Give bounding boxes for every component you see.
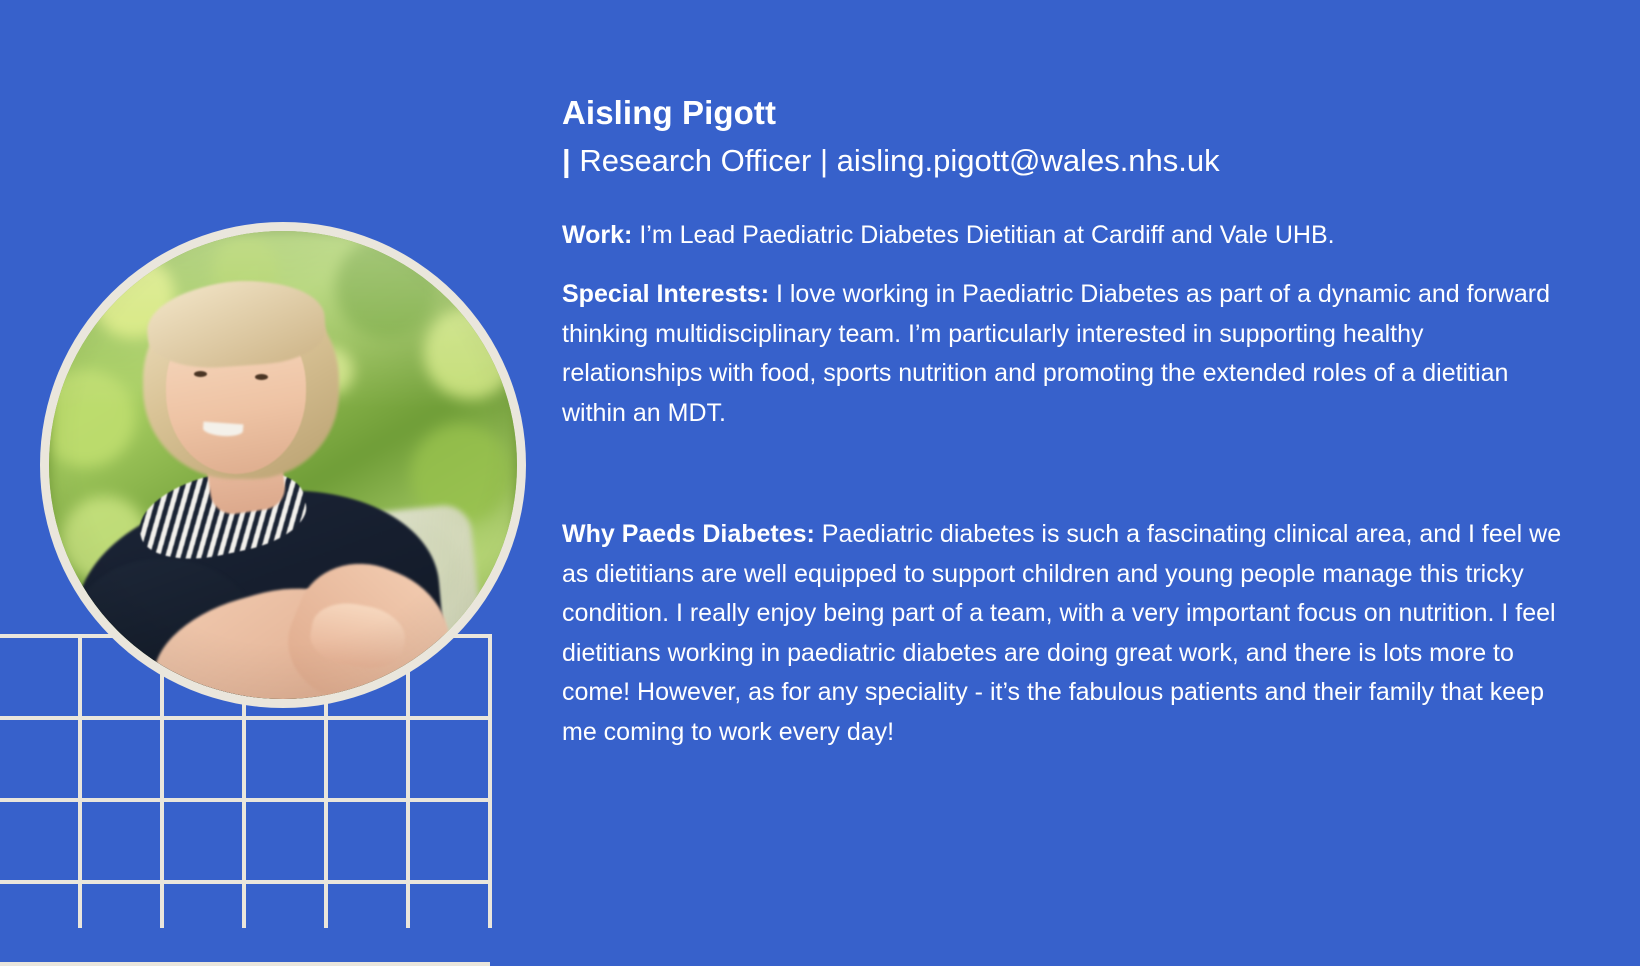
person-email: aisling.pigott@wales.nhs.uk	[828, 143, 1220, 178]
person-name: Aisling Pigott	[562, 92, 1562, 133]
role-separator: |	[820, 143, 828, 178]
section-why-paeds-diabetes: Why Paeds Diabetes: Paediatric diabetes …	[562, 515, 1562, 752]
section-work-body: I’m Lead Paediatric Diabetes Dietitian a…	[632, 221, 1334, 249]
bio-content: Aisling Pigott | Research Officer | aisl…	[562, 0, 1562, 924]
photo-vignette	[49, 231, 517, 699]
section-special-interests: Special Interests: I love working in Pae…	[562, 275, 1562, 433]
grid-line-horizontal	[0, 962, 490, 966]
person-role: Research Officer	[571, 143, 820, 178]
grid-line-horizontal	[0, 798, 490, 802]
section-why-paeds-diabetes-body: Paediatric diabetes is such a fascinatin…	[562, 520, 1561, 746]
grid-line-horizontal	[0, 716, 490, 720]
grid-line-horizontal	[0, 880, 490, 884]
section-special-interests-lead: Special Interests:	[562, 280, 769, 308]
section-work: Work: I’m Lead Paediatric Diabetes Dieti…	[562, 216, 1562, 256]
role-leading-bar: |	[562, 143, 571, 178]
section-why-paeds-diabetes-lead: Why Paeds Diabetes:	[562, 520, 815, 548]
section-work-lead: Work:	[562, 221, 632, 249]
profile-photo	[49, 231, 517, 699]
profile-photo-frame	[40, 222, 526, 708]
person-role-line: | Research Officer | aisling.pigott@wale…	[562, 141, 1562, 181]
